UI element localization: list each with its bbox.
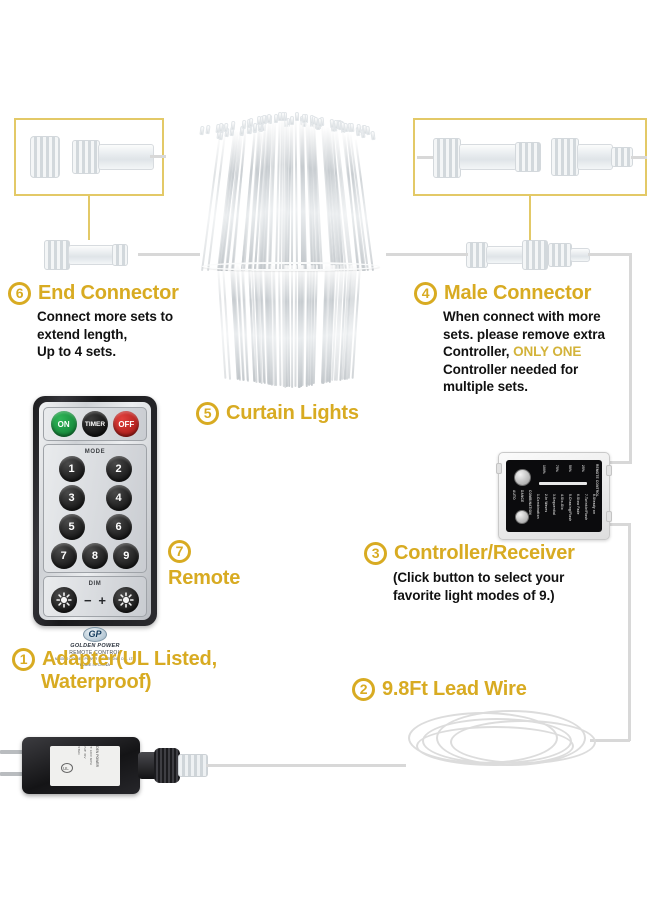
led-bulb xyxy=(349,123,354,132)
label-block-controller: 3 Controller/Receiver (Click button to s… xyxy=(364,542,634,604)
male-connector-heading: 4 Male Connector xyxy=(414,282,649,305)
led-bulb xyxy=(199,126,204,135)
lead-wire-coil xyxy=(404,706,609,778)
male-connector-body-line2: sets. please remove extra xyxy=(443,326,649,344)
remote-key-3[interactable]: 3 xyxy=(59,485,85,511)
badge-5: 5 xyxy=(196,402,219,425)
light-strand xyxy=(291,265,293,388)
light-strand xyxy=(291,123,293,271)
wire-left-to-bundle xyxy=(138,253,200,256)
end-connector-title: End Connector xyxy=(38,282,179,305)
remote-key-8[interactable]: 8 xyxy=(82,543,108,569)
svg-text:GOLDEN POWER: GOLDEN POWER xyxy=(95,746,99,768)
remote-key-2[interactable]: 2 xyxy=(106,456,132,482)
badge-2: 2 xyxy=(352,678,375,701)
led-bulb xyxy=(290,116,294,125)
controller-title: Controller/Receiver xyxy=(394,542,575,565)
label-block-end-connector: 6 End Connector Connect more sets to ext… xyxy=(8,282,218,361)
controller-mode-5: 5.Chasing/Flash xyxy=(568,494,572,521)
controller-left-label-dance: DANCE xyxy=(520,490,524,502)
svg-text:UL: UL xyxy=(63,766,69,771)
male-connector-body-line4: Controller needed for xyxy=(443,361,649,379)
controller-tab-right-bottom xyxy=(606,511,612,522)
remote-mode-panel: MODE 1 2 3 4 5 6 7 xyxy=(43,444,147,573)
brightness-up-icon[interactable] xyxy=(113,587,139,613)
controller-brightness-75: 75% xyxy=(555,465,559,472)
remote-badge-row: 7 xyxy=(168,540,240,563)
male-connector-inset-leader xyxy=(529,196,531,240)
adapter-prong-top xyxy=(0,750,24,754)
led-bulb xyxy=(281,112,285,121)
product-diagram: 100% 75% 50% 25% REMOTE CONTROL AUTO DAN… xyxy=(0,0,660,900)
inset-left-wire xyxy=(150,155,166,158)
remote-key-4[interactable]: 4 xyxy=(106,485,132,511)
remote-title: Remote xyxy=(168,567,240,590)
label-block-adapter: 1 Adapter(UL Listed, Waterproof) xyxy=(12,648,262,694)
badge-1: 1 xyxy=(12,648,35,671)
remote-key-1[interactable]: 1 xyxy=(59,456,85,482)
led-bulb xyxy=(249,118,254,127)
controller-faceplate: 100% 75% 50% 25% REMOTE CONTROL AUTO DAN… xyxy=(506,460,602,532)
led-bulb xyxy=(257,116,261,125)
remote-key-9[interactable]: 9 xyxy=(113,543,139,569)
wire-bundle-to-male xyxy=(386,253,468,256)
label-block-remote: 7 Remote xyxy=(168,540,240,590)
male-connector-body-line1: When connect with more xyxy=(443,308,649,326)
adapter-title-line2: Waterproof) xyxy=(41,671,151,694)
controller-body: (Click button to select your favorite li… xyxy=(393,569,634,604)
adapter-title: Adapter(UL Listed, xyxy=(42,648,217,671)
remote-key-7[interactable]: 7 xyxy=(51,543,77,569)
controller-tab-right-top xyxy=(606,465,612,476)
controller-dim-button[interactable] xyxy=(515,510,529,524)
male-connector-body-line3: Controller, ONLY ONE xyxy=(443,343,649,361)
svg-text:OUTPUT: 31V: OUTPUT: 31V xyxy=(83,746,87,760)
inset-right-wire-right xyxy=(631,156,647,159)
end-connector-heading: 6 End Connector xyxy=(8,282,218,305)
controller-body-line2: favorite light modes of 9.) xyxy=(393,587,634,605)
led-bulb xyxy=(295,112,299,121)
curtain-lights-bundle xyxy=(196,112,386,402)
lead-wire-title: 9.8Ft Lead Wire xyxy=(382,678,527,701)
remote-dim-panel: DIM − + xyxy=(43,576,147,617)
end-connector-body-line2: extend length, xyxy=(37,326,218,344)
remote-power-panel: ON TIMER OFF xyxy=(43,407,147,441)
end-connector-inset-leader xyxy=(88,196,90,240)
led-bulb xyxy=(205,125,210,134)
remote-dim-plus-label: + xyxy=(98,593,106,608)
lead-wire-heading: 2 9.8Ft Lead Wire xyxy=(352,678,527,701)
controller-mode-6: 6.Slow Fade xyxy=(576,494,580,515)
wire-into-controller-top xyxy=(608,461,632,464)
controller-tab-top-left xyxy=(496,463,502,474)
controller-mode-1: 1.Combination xyxy=(536,494,540,519)
controller-side-label: REMOTE CONTROL xyxy=(595,464,599,497)
svg-text:UL LISTED: UL LISTED xyxy=(77,746,81,755)
controller-indicator-bar xyxy=(539,482,587,485)
led-bulb xyxy=(230,121,235,130)
wire-male-to-right-edge xyxy=(588,253,632,256)
wire-adapter-to-coil xyxy=(206,764,406,767)
remote-off-button[interactable]: OFF xyxy=(113,411,139,437)
controller-mode-8: 8.Steady on xyxy=(592,494,596,514)
controller-body-line1: (Click button to select your xyxy=(393,569,634,587)
controller-left-label-auto: AUTO xyxy=(512,490,516,500)
bundle-tie xyxy=(202,262,380,271)
power-adapter: GOLDEN POWER INPUT: 120V 60Hz OUTPUT: 31… xyxy=(22,737,140,794)
adapter-prong-bottom xyxy=(0,772,24,776)
controller-brightness-25: 25% xyxy=(581,465,585,472)
controller-receiver[interactable]: 100% 75% 50% 25% REMOTE CONTROL AUTO DAN… xyxy=(498,452,610,540)
remote-faceplate: ON TIMER OFF MODE 1 2 3 4 xyxy=(39,402,151,620)
remote-heading: Remote xyxy=(168,567,240,590)
controller-mode-4: 4.Slo-Glo xyxy=(560,494,564,510)
end-connector-inset xyxy=(14,118,164,196)
led-bulb xyxy=(267,114,271,123)
remote-on-button[interactable]: ON xyxy=(51,411,77,437)
led-bulb xyxy=(371,131,376,140)
adapter-heading: 1 Adapter(UL Listed, xyxy=(12,648,262,671)
male-connector-only-one-highlight: ONLY ONE xyxy=(513,344,581,359)
male-connector-body-line3-pre: Controller, xyxy=(443,344,513,359)
controller-brightness-50: 50% xyxy=(568,465,572,472)
male-connector-plug xyxy=(466,240,590,270)
end-connector-body: Connect more sets to extend length, Up t… xyxy=(37,308,218,361)
badge-7: 7 xyxy=(168,540,191,563)
end-connector-plug xyxy=(44,240,140,270)
controller-brightness-100: 100% xyxy=(542,465,546,474)
remote-control[interactable]: ON TIMER OFF MODE 1 2 3 4 xyxy=(33,396,157,626)
controller-mode-3: 3.Sequential xyxy=(552,494,556,515)
curtain-lights-title: Curtain Lights xyxy=(226,402,359,425)
controller-heading: 3 Controller/Receiver xyxy=(364,542,634,565)
wire-out-of-controller xyxy=(608,523,630,526)
svg-text:INPUT: 120V 60Hz: INPUT: 120V 60Hz xyxy=(89,746,93,765)
male-connector-body: When connect with more sets. please remo… xyxy=(443,308,649,396)
label-block-curtain-lights: 5 Curtain Lights xyxy=(196,402,359,425)
label-block-lead-wire: 2 9.8Ft Lead Wire xyxy=(352,678,527,701)
controller-mode-button[interactable] xyxy=(514,469,531,486)
coil-loop-5 xyxy=(416,726,574,766)
end-connector-body-line1: Connect more sets to xyxy=(37,308,218,326)
adapter-label: GOLDEN POWER INPUT: 120V 60Hz OUTPUT: 31… xyxy=(50,746,120,786)
male-connector-right-half xyxy=(551,138,633,178)
badge-6: 6 xyxy=(8,282,31,305)
end-connector-body-line3: Up to 4 sets. xyxy=(37,343,218,361)
end-connector-cap-part xyxy=(30,136,60,178)
male-connector-inset xyxy=(413,118,647,196)
remote-timer-button[interactable]: TIMER xyxy=(82,411,108,437)
light-strand xyxy=(295,119,298,271)
controller-left-label-combination: COMBINATION xyxy=(528,490,532,515)
male-connector-title: Male Connector xyxy=(444,282,591,305)
controller-mode-7: 7.Twinkle/Flash xyxy=(584,494,588,520)
remote-key-5[interactable]: 5 xyxy=(59,514,85,540)
remote-key-6[interactable]: 6 xyxy=(106,514,132,540)
remote-dim-minus-label: − xyxy=(84,593,92,608)
controller-mode-2: 2.In Waves xyxy=(544,494,548,512)
badge-4: 4 xyxy=(414,282,437,305)
label-block-male-connector: 4 Male Connector When connect with more … xyxy=(414,282,649,396)
adapter-title-line2-row: Waterproof) xyxy=(41,671,262,694)
adapter-connector-tip xyxy=(178,754,208,777)
led-bulb xyxy=(261,115,265,124)
gp-logo-icon: GP xyxy=(83,627,107,642)
badge-3: 3 xyxy=(364,542,387,565)
curtain-lights-heading: 5 Curtain Lights xyxy=(196,402,359,425)
light-strand xyxy=(278,265,281,386)
adapter-threaded-knob xyxy=(154,748,180,783)
brightness-down-icon[interactable] xyxy=(51,587,77,613)
end-connector-body-part xyxy=(72,140,152,174)
male-connector-left-half xyxy=(433,136,541,180)
male-connector-body-line5: multiple sets. xyxy=(443,378,649,396)
